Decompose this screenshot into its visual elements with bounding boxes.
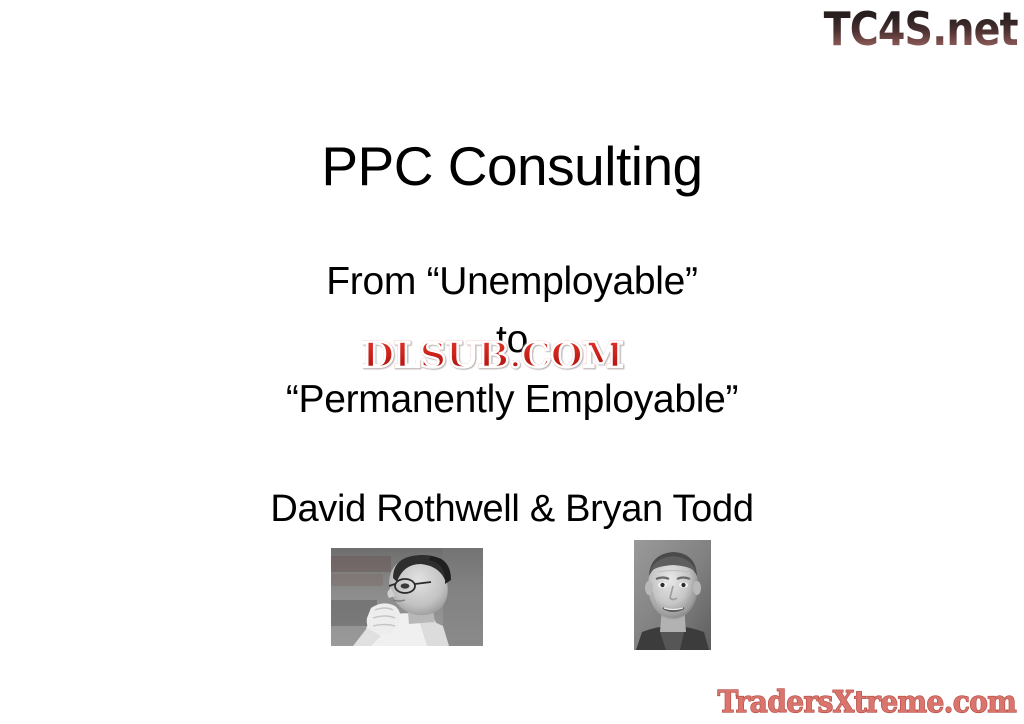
- tc4s-watermark: TC4S.net: [824, 2, 1018, 56]
- authors-line: David Rothwell & Bryan Todd: [0, 490, 1024, 528]
- david-rothwell-photo-graphic: [331, 548, 483, 646]
- presentation-slide: PPC Consulting From “Unemployable” to “P…: [0, 0, 1024, 724]
- bryan-todd-photo: [634, 540, 711, 650]
- subtitle-line-to: to: [0, 320, 1024, 359]
- subtitle-line-from-unemployable: From “Unemployable”: [0, 262, 1024, 301]
- david-rothwell-photo: [331, 548, 483, 646]
- subtitle-line-permanently-employable: “Permanently Employable”: [0, 380, 1024, 419]
- tradersxtreme-watermark: TradersXtreme.com: [717, 685, 1016, 720]
- slide-title: PPC Consulting: [0, 138, 1024, 196]
- bryan-todd-photo-graphic: [634, 540, 711, 650]
